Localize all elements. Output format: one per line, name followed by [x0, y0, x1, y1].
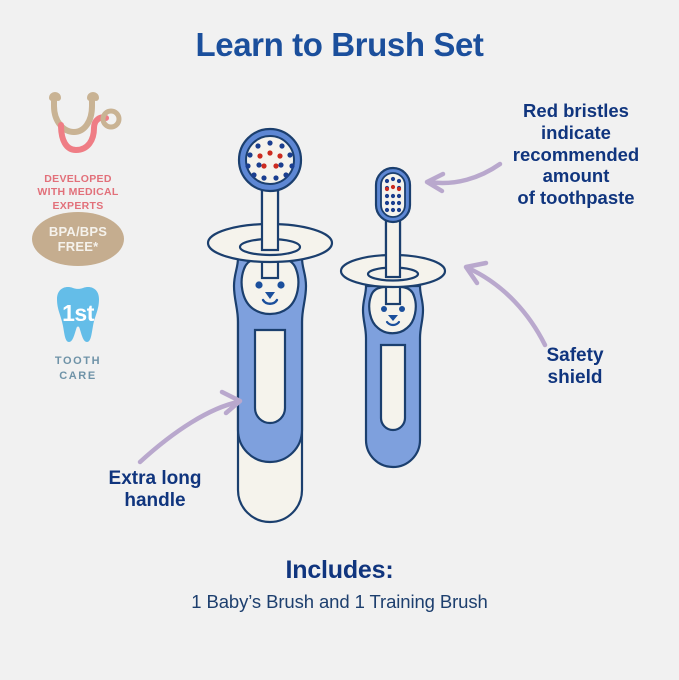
babys-brush-grip-stripe [255, 330, 285, 423]
babys-brush-eye-left [255, 281, 262, 288]
product-babys-brush [208, 129, 332, 522]
training-brush-eye-right [399, 306, 405, 312]
callout-safety-shield: Safety shield [500, 345, 650, 390]
arrow-to-safety-shield [466, 263, 545, 345]
includes-section: Includes: 1 Baby’s Brush and 1 Training … [0, 556, 679, 613]
arrow-to-handle [140, 392, 240, 462]
training-brush-grip-stripe [381, 345, 405, 430]
callout-red-bristles: Red bristles indicate recommended amount… [480, 100, 672, 209]
includes-heading: Includes: [0, 556, 679, 585]
infographic-canvas: Learn to Brush Set DEVELOPED WITH MEDICA… [0, 0, 679, 680]
callout-extra-long-handle: Extra long handle [62, 468, 248, 513]
product-training-brush [341, 168, 445, 467]
training-brush-eye-left [381, 306, 387, 312]
babys-brush-eye-right [277, 281, 284, 288]
includes-description: 1 Baby’s Brush and 1 Training Brush [0, 591, 679, 613]
